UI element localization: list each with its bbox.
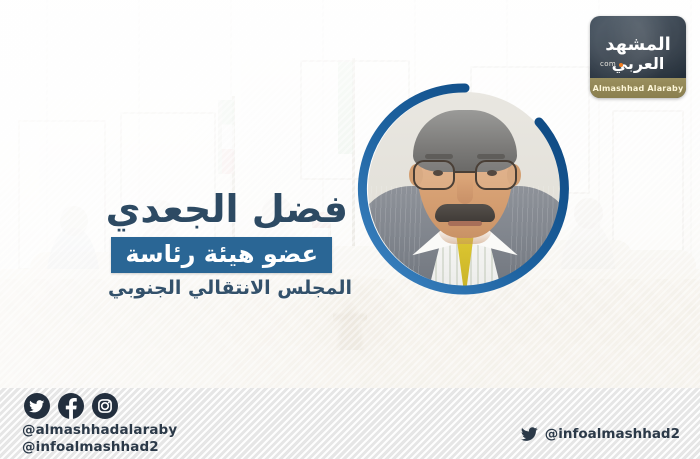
brand-logo[interactable]: المشهد العربي com Almashhad Alaraby: [590, 16, 686, 98]
logo-dot-icon: [619, 63, 623, 67]
person-head: [60, 206, 88, 236]
flag-uae: [218, 100, 234, 174]
social-handles: @almashhadalaraby @infoalmashhad2: [22, 422, 177, 456]
flag-saudi: [338, 62, 353, 154]
role-badge: عضو هيئة رئاسة: [111, 237, 332, 273]
handle-secondary[interactable]: @infoalmashhad2: [22, 439, 177, 456]
logo-tagline: Almashhad Alaraby: [593, 84, 684, 93]
facebook-icon[interactable]: [58, 393, 84, 419]
portrait-ring: [354, 78, 576, 300]
right-handle-text: @infoalmashhad2: [545, 426, 680, 442]
footer-right-handle[interactable]: @infoalmashhad2: [521, 426, 680, 442]
twitter-icon: [521, 427, 538, 442]
handle-primary[interactable]: @almashhadalaraby: [22, 422, 177, 439]
wall-frame: [612, 110, 684, 260]
logo-arabic-line1: المشهد: [590, 36, 686, 54]
person-head: [574, 198, 603, 229]
logo-com-text: com: [600, 60, 616, 68]
social-icon-group: [24, 393, 118, 419]
organization-subtitle: المجلس الانتقالي الجنوبي: [108, 279, 352, 298]
footer-bar: @almashhadalaraby @infoalmashhad2 @infoa…: [0, 388, 700, 459]
logo-tagline-bar: Almashhad Alaraby: [590, 78, 686, 98]
twitter-icon[interactable]: [24, 393, 50, 419]
news-card: المشهد العربي com Almashhad Alaraby: [0, 0, 700, 459]
portrait-container: [354, 78, 576, 300]
person-name: فضل الجعدي: [106, 190, 348, 228]
instagram-icon[interactable]: [92, 393, 118, 419]
